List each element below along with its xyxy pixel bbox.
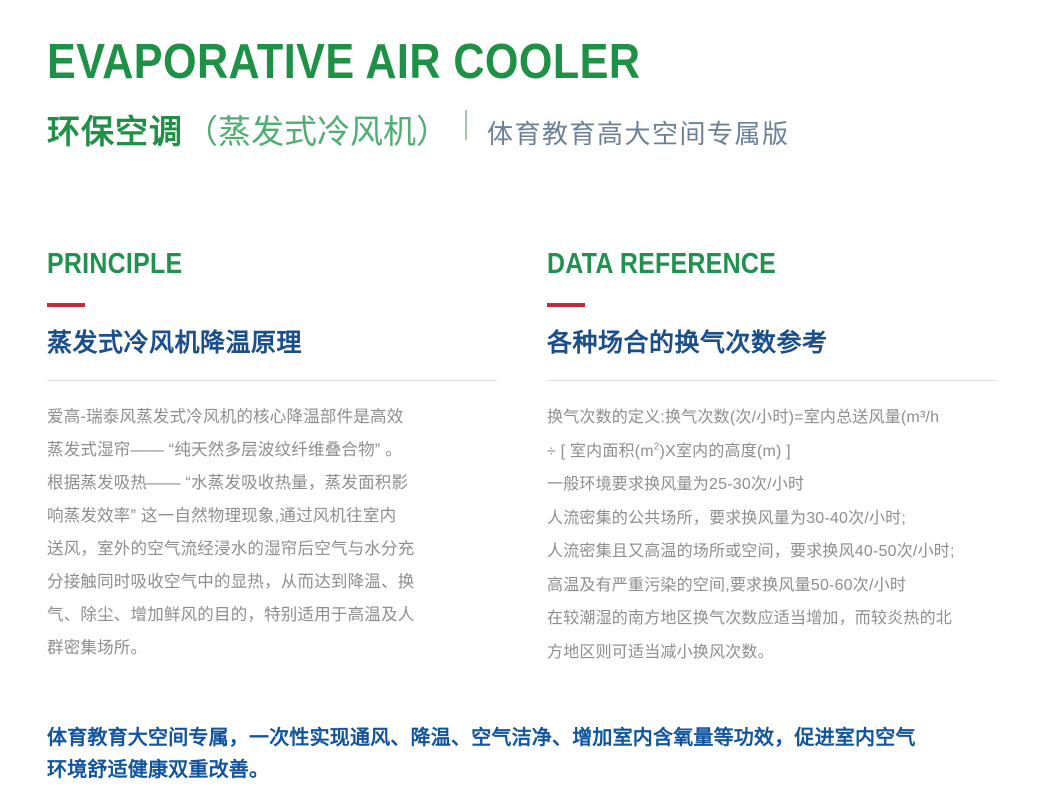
footer-line: 环境舒适健康双重改善。 xyxy=(47,754,1007,786)
accent-rule-icon xyxy=(47,303,85,307)
body-line: 一般环境要求换风量为25-30次/小时 xyxy=(547,468,997,502)
poster-page: EVAPORATIVE AIR COOLER 环保空调 （蒸发式冷风机） 体育教… xyxy=(0,0,1042,798)
body-line: 送风，室外的空气流经浸水的湿帘后空气与水分充 xyxy=(47,533,497,566)
vertical-divider-icon xyxy=(465,110,467,140)
subtitle-secondary: （蒸发式冷风机） xyxy=(185,112,449,152)
body-line: 根据蒸发吸热—— “水蒸发吸收热量，蒸发面积影 xyxy=(47,467,497,500)
section-heading-principle: 蒸发式冷风机降温原理 xyxy=(47,328,497,358)
section-divider xyxy=(47,380,497,381)
body-line-formula: ÷ [ 室内面积(m2)X室内的高度(m) ] xyxy=(547,435,997,469)
accent-rule-icon xyxy=(547,303,585,307)
footer-callout: 体育教育大空间专属，一次性实现通风、降温、空气洁净、增加室内含氧量等功效，促进室… xyxy=(47,722,1007,786)
section-divider xyxy=(547,380,997,381)
body-line: 在较潮湿的南方地区换气次数应适当增加，而较炎热的北 xyxy=(547,602,997,636)
section-heading-data-reference: 各种场合的换气次数参考 xyxy=(547,328,997,358)
subtitle-row: 环保空调 （蒸发式冷风机） 体育教育高大空间专属版 xyxy=(47,112,997,154)
body-line: 方地区则可适当减小换风次数。 xyxy=(547,636,997,670)
section-eyebrow-principle: PRINCIPLE xyxy=(47,248,434,280)
body-line: 人流密集且又高温的场所或空间，要求换风40-50次/小时; xyxy=(547,535,997,569)
body-line: 蒸发式湿帘—— “纯天然多层波纹纤维叠合物” 。 xyxy=(47,434,497,467)
section-eyebrow-data-reference: DATA REFERENCE xyxy=(547,248,934,280)
body-line: 人流密集的公共场所，要求换风量为30-40次/小时; xyxy=(547,502,997,536)
masthead: EVAPORATIVE AIR COOLER 环保空调 （蒸发式冷风机） 体育教… xyxy=(47,36,997,154)
column-principle: PRINCIPLE 蒸发式冷风机降温原理 爱高-瑞泰风蒸发式冷风机的核心降温部件… xyxy=(47,248,497,669)
body-line: 高温及有严重污染的空间,要求换风量50-60次/小时 xyxy=(547,569,997,603)
body-data-reference: 换气次数的定义:换气次数(次/小时)=室内总送风量(m³/h ÷ [ 室内面积(… xyxy=(547,401,997,669)
superscript-two: 2 xyxy=(654,441,660,452)
column-data-reference: DATA REFERENCE 各种场合的换气次数参考 换气次数的定义:换气次数(… xyxy=(547,248,997,669)
body-line: 响蒸发效率” 这一自然物理现象,通过风机往室内 xyxy=(47,500,497,533)
footer-line: 体育教育大空间专属，一次性实现通风、降温、空气洁净、增加室内含氧量等功效，促进室… xyxy=(47,722,1007,754)
body-line: 换气次数的定义:换气次数(次/小时)=室内总送风量(m³/h xyxy=(547,401,997,435)
body-line: 分接触同时吸收空气中的显热，从而达到降温、换 xyxy=(47,566,497,599)
page-title: EVAPORATIVE AIR COOLER xyxy=(47,36,883,88)
body-line: 爱高-瑞泰风蒸发式冷风机的核心降温部件是高效 xyxy=(47,401,497,434)
content-columns: PRINCIPLE 蒸发式冷风机降温原理 爱高-瑞泰风蒸发式冷风机的核心降温部件… xyxy=(47,248,997,669)
subtitle-primary: 环保空调 xyxy=(47,112,183,152)
subtitle-tagline: 体育教育高大空间专属版 xyxy=(487,114,790,154)
body-principle: 爱高-瑞泰风蒸发式冷风机的核心降温部件是高效 蒸发式湿帘—— “纯天然多层波纹纤… xyxy=(47,401,497,665)
body-line: 群密集场所。 xyxy=(47,632,497,665)
body-line: 气、除尘、增加鲜风的目的，特别适用于高温及人 xyxy=(47,599,497,632)
